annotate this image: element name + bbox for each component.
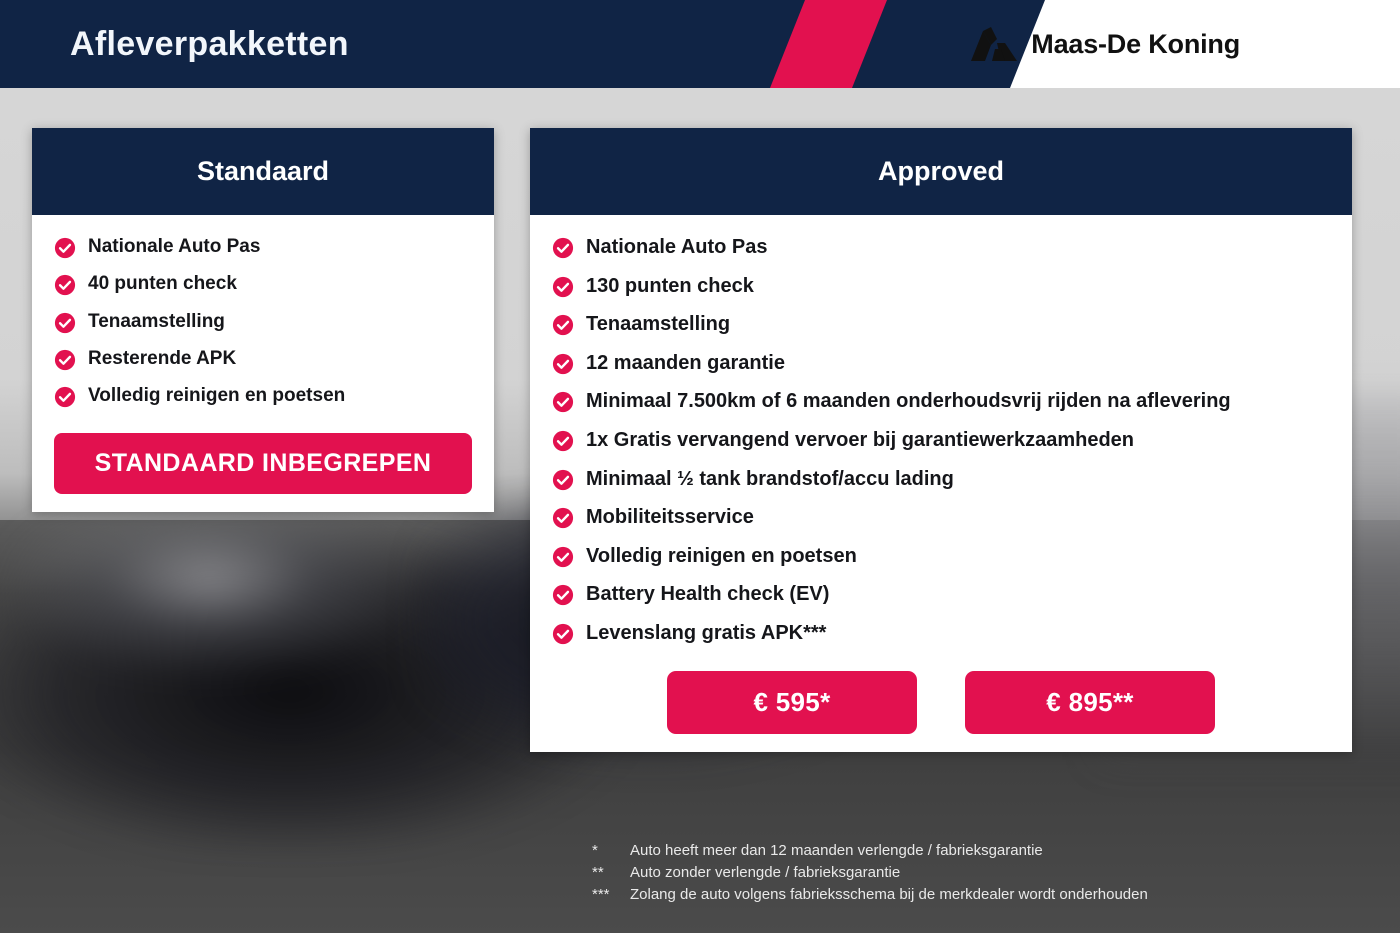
check-circle-icon <box>54 237 76 259</box>
footnote-marker: *** <box>592 884 630 906</box>
feature-label: Minimaal ½ tank brandstof/accu lading <box>586 467 954 493</box>
feature-label: Battery Health check (EV) <box>586 582 829 608</box>
list-item: Volledig reinigen en poetsen <box>54 384 472 408</box>
package-card-approved: Approved Nationale Auto Pas 130 punten c… <box>530 128 1352 752</box>
standaard-inbegrepen-button[interactable]: STANDAARD INBEGREPEN <box>54 433 472 494</box>
brand-name: Maas-De Koning <box>1031 29 1240 60</box>
check-circle-icon <box>552 391 574 413</box>
check-circle-icon <box>552 430 574 452</box>
price-button-row: € 595* € 895** <box>552 671 1330 734</box>
list-item: Nationale Auto Pas <box>552 235 1330 261</box>
package-card-standaard: Standaard Nationale Auto Pas 40 punten c… <box>32 128 494 512</box>
maas-de-koning-m-logo-icon <box>971 27 1017 61</box>
check-circle-icon <box>54 274 76 296</box>
feature-list-approved: Nationale Auto Pas 130 punten check Tena… <box>552 235 1330 647</box>
list-item: 1x Gratis vervangend vervoer bij garanti… <box>552 428 1330 454</box>
brand-logo: Maas-De Koning <box>971 0 1240 88</box>
page-title: Afleverpakketten <box>70 0 349 88</box>
card-title-approved: Approved <box>530 128 1352 215</box>
price-button-595[interactable]: € 595* <box>667 671 917 734</box>
list-item: Tenaamstelling <box>552 312 1330 338</box>
list-item: 40 punten check <box>54 272 472 296</box>
check-circle-icon <box>54 312 76 334</box>
footnote-row: ** Auto zonder verlengde / fabrieksgaran… <box>592 862 1148 884</box>
footnotes: * Auto heeft meer dan 12 maanden verleng… <box>592 840 1148 906</box>
check-circle-icon <box>552 623 574 645</box>
footnote-row: * Auto heeft meer dan 12 maanden verleng… <box>592 840 1148 862</box>
list-item: Battery Health check (EV) <box>552 582 1330 608</box>
list-item: Minimaal ½ tank brandstof/accu lading <box>552 467 1330 493</box>
footnote-text: Auto heeft meer dan 12 maanden verlengde… <box>630 840 1148 862</box>
check-circle-icon <box>552 469 574 491</box>
list-item: Tenaamstelling <box>54 310 472 334</box>
feature-label: 130 punten check <box>586 274 754 300</box>
check-circle-icon <box>552 276 574 298</box>
feature-label: Volledig reinigen en poetsen <box>586 544 857 570</box>
check-circle-icon <box>552 507 574 529</box>
feature-label: 40 punten check <box>88 272 237 296</box>
promo-poster: Afleverpakketten Maas-De Koning Standaar… <box>0 0 1400 933</box>
feature-label: 1x Gratis vervangend vervoer bij garanti… <box>586 428 1134 454</box>
check-circle-icon <box>552 237 574 259</box>
check-circle-icon <box>54 349 76 371</box>
list-item: 12 maanden garantie <box>552 351 1330 377</box>
footnote-marker: * <box>592 840 630 862</box>
list-item: Nationale Auto Pas <box>54 235 472 259</box>
feature-label: 12 maanden garantie <box>586 351 785 377</box>
footnote-marker: ** <box>592 862 630 884</box>
footnote-text: Auto zonder verlengde / fabrieksgarantie <box>630 862 1148 884</box>
feature-label: Mobiliteitsservice <box>586 505 754 531</box>
check-circle-icon <box>552 353 574 375</box>
check-circle-icon <box>552 546 574 568</box>
check-circle-icon <box>552 314 574 336</box>
page-header: Afleverpakketten Maas-De Koning <box>0 0 1400 88</box>
check-circle-icon <box>552 584 574 606</box>
feature-label: Nationale Auto Pas <box>586 235 768 261</box>
list-item: Minimaal 7.500km of 6 maanden onderhouds… <box>552 389 1330 415</box>
feature-label: Resterende APK <box>88 347 236 371</box>
feature-label: Tenaamstelling <box>88 310 225 334</box>
feature-label: Tenaamstelling <box>586 312 730 338</box>
card-title-standaard: Standaard <box>32 128 494 215</box>
footnote-row: *** Zolang de auto volgens fabrieksschem… <box>592 884 1148 906</box>
footnote-text: Zolang de auto volgens fabrieksschema bi… <box>630 884 1148 906</box>
list-item: Volledig reinigen en poetsen <box>552 544 1330 570</box>
price-button-895[interactable]: € 895** <box>965 671 1215 734</box>
list-item: Levenslang gratis APK*** <box>552 621 1330 647</box>
card-body-approved: Nationale Auto Pas 130 punten check Tena… <box>530 215 1352 752</box>
list-item: 130 punten check <box>552 274 1330 300</box>
card-body-standaard: Nationale Auto Pas 40 punten check Tenaa… <box>32 215 494 512</box>
feature-label: Nationale Auto Pas <box>88 235 260 259</box>
feature-label: Levenslang gratis APK*** <box>586 621 826 647</box>
check-circle-icon <box>54 386 76 408</box>
list-item: Mobiliteitsservice <box>552 505 1330 531</box>
feature-label: Minimaal 7.500km of 6 maanden onderhouds… <box>586 389 1231 415</box>
feature-label: Volledig reinigen en poetsen <box>88 384 345 408</box>
feature-list-standaard: Nationale Auto Pas 40 punten check Tenaa… <box>54 235 472 409</box>
list-item: Resterende APK <box>54 347 472 371</box>
